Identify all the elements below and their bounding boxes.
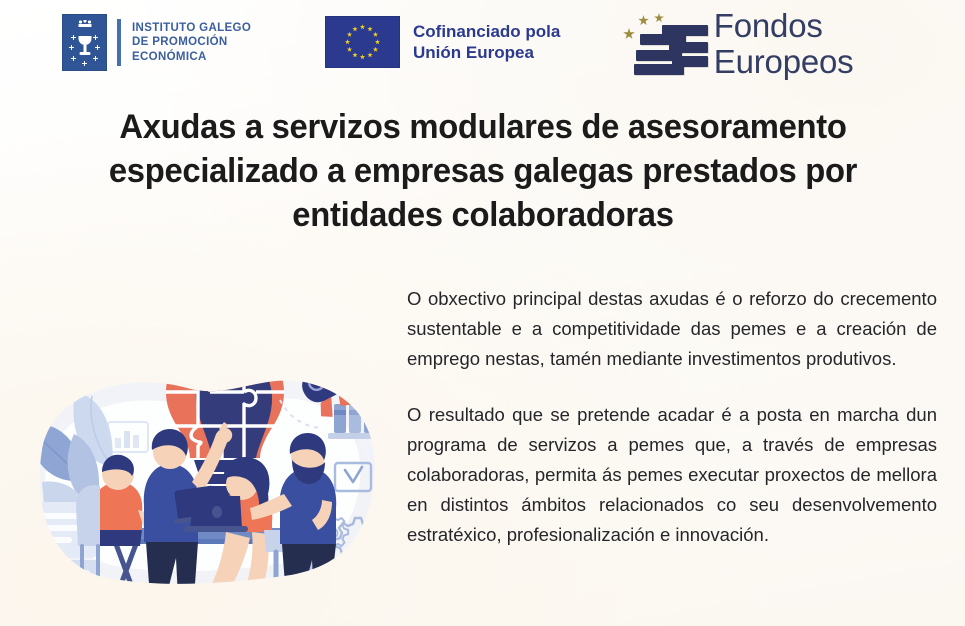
- logo-fondos-label: Fondos Europeos: [714, 8, 965, 80]
- logo-igape-label: INSTITUTO GALEGO DE PROMOCIÓN ECONÓMICA: [132, 21, 251, 65]
- chalice-icon: [78, 36, 91, 56]
- eu-star-icon: [347, 47, 353, 53]
- eu-star-icon: [352, 26, 358, 32]
- fondos-europeos-stairs-icon: [618, 12, 706, 76]
- poster-page: INSTITUTO GALEGO DE PROMOCIÓN ECONÓMICA …: [0, 0, 965, 626]
- igape-line-2: DE PROMOCIÓN: [132, 36, 228, 48]
- logo-eu-label: Cofinanciado pola Unión Europea: [413, 21, 560, 63]
- page-title: Axudas a servizos modulares de asesorame…: [60, 105, 906, 237]
- eu-star-icon: [360, 24, 366, 30]
- logo-european-union: Cofinanciado pola Unión Europea: [325, 16, 560, 68]
- paragraph-objective: O obxectivo principal destas axudas é o …: [407, 284, 937, 374]
- galicia-coat-of-arms-icon: [62, 14, 107, 71]
- logo-igape: INSTITUTO GALEGO DE PROMOCIÓN ECONÓMICA: [62, 14, 251, 71]
- igape-line-1: INSTITUTO GALEGO: [132, 22, 251, 34]
- eu-line-2: Unión Europea: [413, 43, 534, 62]
- body-copy: O obxectivo principal destas axudas é o …: [407, 284, 937, 550]
- team-collaboration-illustration: [12, 330, 397, 620]
- igape-line-3: ECONÓMICA: [132, 51, 207, 63]
- paragraph-result: O resultado que se pretende acadar é a p…: [407, 400, 937, 550]
- eu-star-icon: [375, 39, 381, 45]
- shelf-with-binders: [328, 404, 390, 439]
- eu-star-icon: [352, 52, 358, 58]
- eu-star-icon: [373, 32, 379, 38]
- eu-star-icon: [367, 26, 373, 32]
- eu-star-icon: [360, 54, 366, 60]
- eu-star-icon: [373, 47, 379, 53]
- eu-star-icon: [367, 52, 373, 58]
- eu-flag-icon: [325, 16, 400, 68]
- eu-star-icon: [345, 39, 351, 45]
- logo-fondos-europeos: Fondos Europeos: [618, 8, 965, 80]
- crown-icon: [77, 20, 92, 27]
- logo-divider: [117, 19, 121, 66]
- eu-line-1: Cofinanciado pola: [413, 22, 560, 41]
- logo-strip: INSTITUTO GALEGO DE PROMOCIÓN ECONÓMICA …: [0, 0, 965, 86]
- eu-star-icon: [347, 32, 353, 38]
